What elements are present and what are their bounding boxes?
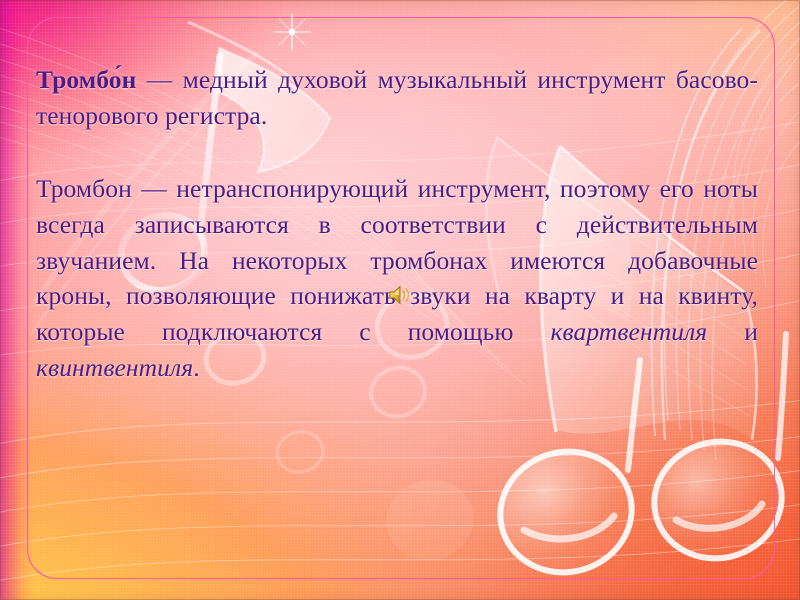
speaker-icon[interactable]	[387, 283, 413, 307]
presentation-slide: Тромбо́н — медный духовой музыкальный ин…	[0, 0, 800, 600]
paragraph-transposition: Тромбон — нетранспонирующий инструмент, …	[36, 171, 758, 385]
conjunction-and: и	[707, 317, 758, 346]
paragraph-definition: Тромбо́н — медный духовой музыкальный ин…	[36, 62, 758, 133]
slide-text-body: Тромбо́н — медный духовой музыкальный ин…	[36, 62, 758, 386]
sentence-period: .	[193, 353, 199, 382]
term-kvintventil-italic: квинтвентиля	[36, 353, 193, 382]
term-kvartventil-italic: квартвентиля	[550, 317, 707, 346]
definition-text: — медный духовой музыкальный инструмент …	[36, 65, 758, 130]
term-trombone-bold: Тромбо́н	[36, 65, 136, 94]
